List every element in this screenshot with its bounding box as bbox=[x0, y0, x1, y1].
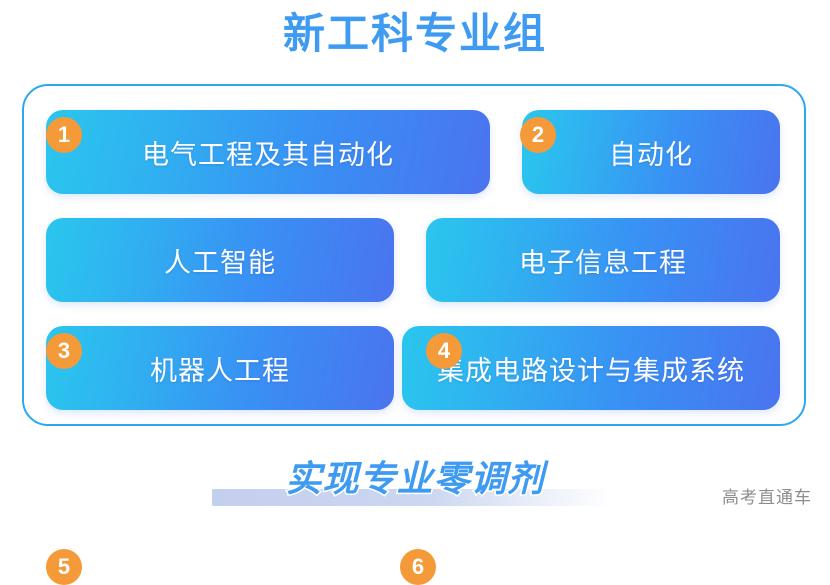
major-card-label: 电子信息工程 bbox=[519, 241, 687, 280]
major-badge-1: 1 bbox=[46, 117, 82, 153]
major-badge-5: 5 bbox=[46, 549, 82, 585]
major-badge-2: 2 bbox=[520, 117, 556, 153]
major-badge-4: 4 bbox=[426, 333, 462, 369]
major-row: 机器人工程 集成电路设计与集成系统 5 6 bbox=[24, 326, 804, 410]
major-card-robotics-engineering[interactable]: 机器人工程 bbox=[46, 326, 394, 410]
major-card-label: 机器人工程 bbox=[150, 349, 290, 388]
major-card-automation[interactable]: 自动化 bbox=[522, 110, 780, 194]
major-row: 人工智能 电子信息工程 3 4 bbox=[24, 218, 804, 302]
slogan-text: 实现专业零调剂 bbox=[0, 455, 830, 503]
major-badge-3: 3 bbox=[46, 333, 82, 369]
major-card-electrical-engineering[interactable]: 电气工程及其自动化 bbox=[46, 110, 490, 194]
major-card-label: 集成电路设计与集成系统 bbox=[437, 349, 745, 388]
watermark-label: 高考直通车 bbox=[722, 483, 812, 508]
major-card-electronic-information-engineering[interactable]: 电子信息工程 bbox=[426, 218, 780, 302]
major-badge-6: 6 bbox=[400, 549, 436, 585]
majors-panel: 电气工程及其自动化 自动化 1 2 人工智能 电子信息工程 3 4 机器人工程 … bbox=[22, 84, 806, 426]
major-row: 电气工程及其自动化 自动化 1 2 bbox=[24, 110, 804, 194]
major-card-artificial-intelligence[interactable]: 人工智能 bbox=[46, 218, 394, 302]
major-card-integrated-circuit-design[interactable]: 集成电路设计与集成系统 bbox=[402, 326, 780, 410]
page-title: 新工科专业组 bbox=[0, 8, 830, 60]
major-card-label: 人工智能 bbox=[164, 241, 276, 280]
major-card-label: 电气工程及其自动化 bbox=[142, 133, 394, 172]
major-card-label: 自动化 bbox=[609, 133, 693, 172]
